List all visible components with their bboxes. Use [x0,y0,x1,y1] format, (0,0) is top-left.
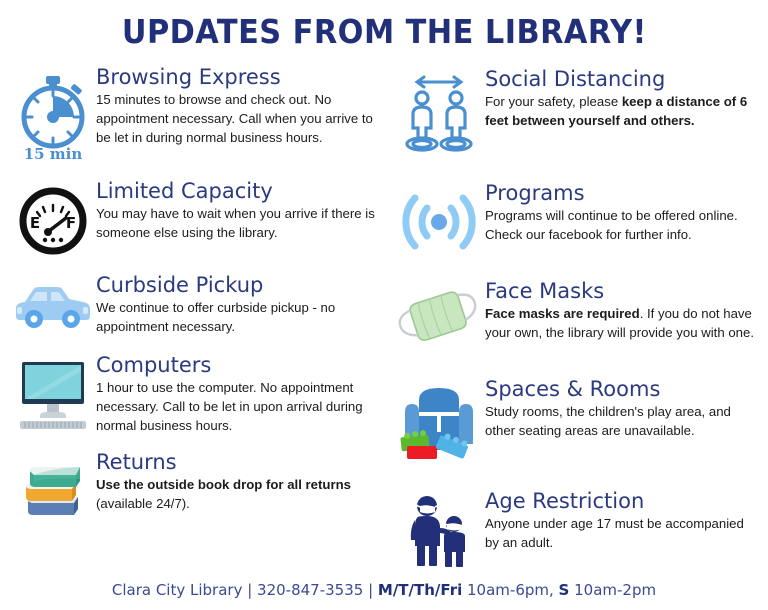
item-text: Browsing Express 15 minutes to browse an… [96,66,379,147]
item-heading: Face Masks [485,280,760,303]
item-browsing-express: 15 min Browsing Express 15 minutes to br… [10,66,379,162]
armchair-icon [393,378,485,462]
page-title: UPDATES FROM THE LIBRARY! [122,12,647,51]
item-body-bold: Use the outside book drop for all return… [96,477,351,492]
item-text: Social Distancing For your safety, pleas… [485,68,760,130]
fuel-gauge-icon: E F [10,180,96,258]
item-curbside-pickup: Curbside Pickup We continue to offer cur… [10,274,379,336]
item-heading: Spaces & Rooms [485,378,760,401]
item-heading: Browsing Express [96,66,379,89]
item-text: Curbside Pickup We continue to offer cur… [96,274,379,336]
face-mask-icon [393,280,485,354]
item-computers: Computers 1 hour to use the computer. No… [10,354,379,435]
adult-and-child-icon [393,490,485,570]
item-heading: Age Restriction [485,490,760,513]
item-text: Programs Programs will continue to be of… [485,182,760,244]
stopwatch-icon: 15 min [10,66,96,162]
item-body: You may have to wait when you arrive if … [96,204,379,242]
left-column: 15 min Browsing Express 15 minutes to br… [10,62,385,570]
fuel-gauge-icon-label-full: F [66,214,76,232]
item-body: Programs will continue to be offered onl… [485,206,760,244]
item-text: Face Masks Face masks are required. If y… [485,280,760,342]
item-heading: Computers [96,354,379,377]
title-bar: UPDATES FROM THE LIBRARY! [0,0,768,62]
item-text: Spaces & Rooms Study rooms, the children… [485,378,760,440]
item-text: Age Restriction Anyone under age 17 must… [485,490,760,552]
fuel-gauge-icon-label-empty: E [30,214,40,232]
desktop-computer-icon [10,354,96,434]
item-heading: Limited Capacity [96,180,379,203]
item-body: We continue to offer curbside pickup - n… [96,298,379,336]
item-heading: Returns [96,451,379,474]
broadcast-signal-icon [393,182,485,258]
item-text: Computers 1 hour to use the computer. No… [96,354,379,435]
item-heading: Programs [485,182,760,205]
footer-weekday-hours: 10am-6pm, [462,581,558,599]
item-spaces-and-rooms: Spaces & Rooms Study rooms, the children… [393,378,760,462]
social-distancing-icon [393,68,485,158]
item-body: Use the outside book drop for all return… [96,475,379,513]
item-heading: Social Distancing [485,68,760,91]
footer-saturday-label: S [559,581,570,599]
item-body: 15 minutes to browse and check out. No a… [96,90,379,147]
footer-separator-1: | [242,581,257,599]
right-column: Social Distancing For your safety, pleas… [385,62,760,570]
item-face-masks: Face Masks Face masks are required. If y… [393,280,760,354]
footer: Clara City Library | 320-847-3535 | M/T/… [0,570,768,610]
item-body: Study rooms, the children's play area, a… [485,402,760,440]
footer-separator-2: | [363,581,378,599]
item-text: Limited Capacity You may have to wait wh… [96,180,379,242]
footer-phone: 320-847-3535 [257,581,363,599]
content-columns: 15 min Browsing Express 15 minutes to br… [0,62,768,570]
item-limited-capacity: E F Limited Capacity You may have to wai… [10,180,379,258]
item-body: For your safety, please keep a distance … [485,92,760,130]
footer-text: Clara City Library | 320-847-3535 | M/T/… [112,581,656,599]
item-body: 1 hour to use the computer. No appointme… [96,378,379,435]
item-returns: Returns Use the outside book drop for al… [10,451,379,521]
item-body: Anyone under age 17 must be accompanied … [485,514,760,552]
stopwatch-icon-label: 15 min [24,145,83,162]
footer-saturday-hours: 10am-2pm [569,581,656,599]
item-social-distancing: Social Distancing For your safety, pleas… [393,68,760,158]
item-text: Returns Use the outside book drop for al… [96,451,379,513]
stacked-books-icon [10,451,96,521]
car-icon [10,274,96,332]
item-body-bold: Face masks are required [485,306,640,321]
item-age-restriction: Age Restriction Anyone under age 17 must… [393,490,760,570]
poster: UPDATES FROM THE LIBRARY! [0,0,768,593]
item-body: Face masks are required. If you do not h… [485,304,760,342]
footer-library-name: Clara City Library [112,581,243,599]
footer-weekday-label: M/T/Th/Fri [378,581,462,599]
item-heading: Curbside Pickup [96,274,379,297]
item-programs: Programs Programs will continue to be of… [393,182,760,258]
